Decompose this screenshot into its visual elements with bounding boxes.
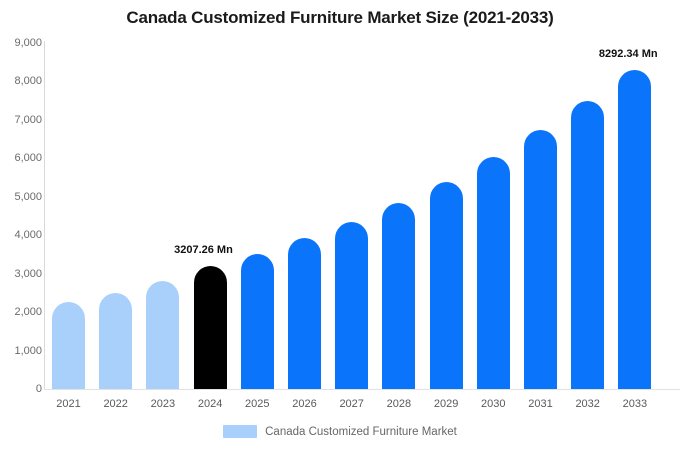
bar-2021[interactable] [52, 302, 85, 389]
bar-chart: Canada Customized Furniture Market Size … [0, 0, 680, 450]
y-axis-tick-label: 4,000 [2, 229, 42, 241]
bar-2025[interactable] [241, 254, 274, 389]
y-axis-tick-label: 7,000 [2, 114, 42, 126]
x-axis-tick-label-2033: 2033 [605, 398, 665, 410]
bar-2027[interactable] [335, 222, 368, 389]
y-axis-tick-label: 2,000 [2, 306, 42, 318]
y-axis-tick-label: 5,000 [2, 191, 42, 203]
bar-2029[interactable] [430, 182, 463, 389]
bar-2028[interactable] [382, 203, 415, 389]
y-axis: 01,0002,0003,0004,0005,0006,0007,0008,00… [0, 0, 42, 450]
bar-value-label-2024: 3207.26 Mn [174, 244, 233, 256]
y-axis-tick-label: 9,000 [2, 37, 42, 49]
y-axis-tick-label: 3,000 [2, 268, 42, 280]
bar-2031[interactable] [524, 130, 557, 389]
chart-legend[interactable]: Canada Customized Furniture Market [0, 425, 680, 438]
bar-value-label-2033: 8292.34 Mn [599, 48, 658, 60]
y-axis-tick-label: 8,000 [2, 75, 42, 87]
y-axis-tick-label: 1,000 [2, 345, 42, 357]
bar-2026[interactable] [288, 238, 321, 389]
bar-2030[interactable] [477, 157, 510, 389]
y-axis-tick-label: 0 [2, 383, 42, 395]
x-axis-line [44, 389, 680, 390]
bar-2023[interactable] [146, 281, 179, 389]
y-axis-tick-label: 6,000 [2, 152, 42, 164]
legend-swatch-canada-customized-furniture-market [223, 425, 257, 438]
bar-2024[interactable] [194, 266, 227, 389]
bar-2032[interactable] [571, 101, 604, 389]
chart-title: Canada Customized Furniture Market Size … [0, 8, 680, 28]
legend-label: Canada Customized Furniture Market [265, 426, 457, 438]
bar-2033[interactable] [618, 70, 651, 389]
bar-2022[interactable] [99, 293, 132, 389]
